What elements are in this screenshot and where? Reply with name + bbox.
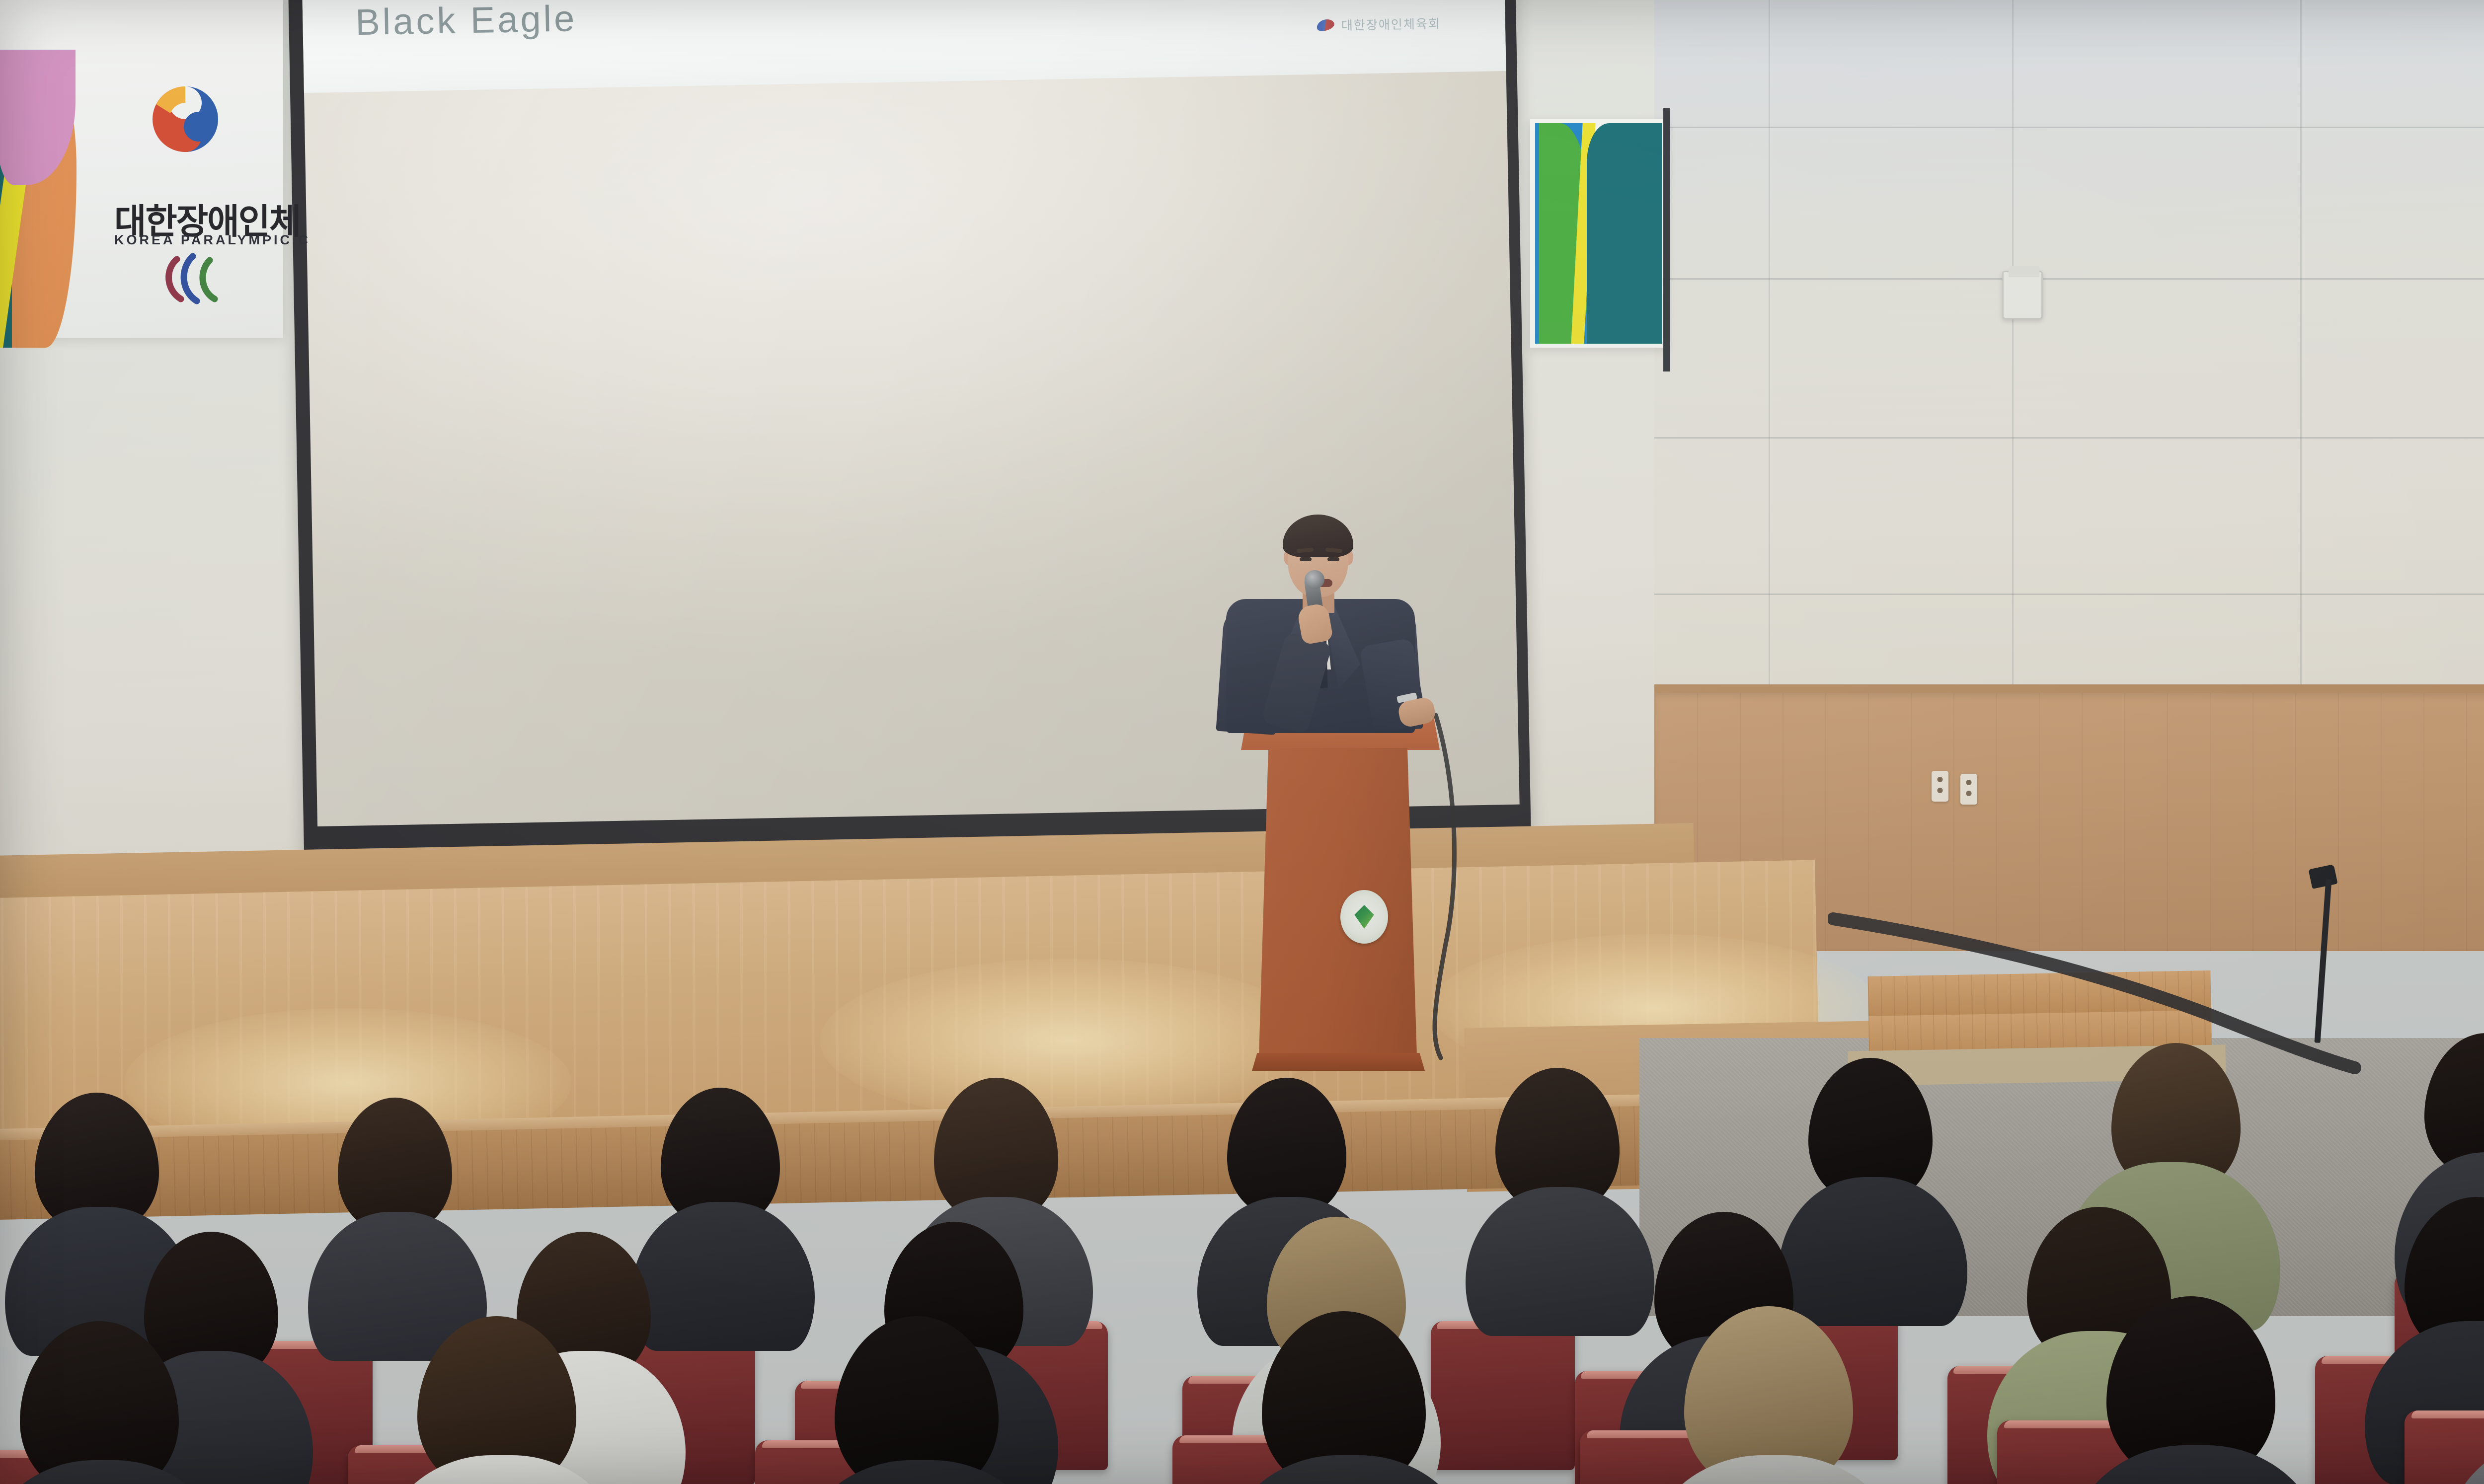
audience-torso [1779, 1177, 1967, 1326]
taeguk-mark-icon [1315, 17, 1335, 33]
podium-emblem-icon [1340, 890, 1388, 944]
slide-logo: 대한장애인체육회 [1316, 13, 1452, 35]
color-flag-banner [1530, 119, 1667, 348]
slide-logo-text: 대한장애인체육회 [1341, 14, 1441, 34]
seat[interactable] [2405, 1410, 2484, 1484]
banner-color-swoosh [0, 50, 104, 348]
audience-torso [631, 1202, 815, 1351]
audience-head [1227, 1078, 1346, 1217]
korea-paralympic-banner: 대한장애인체 KOREA PARALYMPIC C [0, 0, 283, 338]
agitos-symbol-icon [162, 251, 232, 306]
emergency-wall-light-icon [2002, 271, 2043, 319]
seated-audience [0, 973, 2484, 1484]
presenter [1202, 512, 1436, 725]
presenter-hair [1283, 515, 1353, 557]
audience-torso [1466, 1187, 1654, 1336]
auditorium-photo: Black Eagle 대한장애인체육회 대한장애인체 KOREA PAR [0, 0, 2484, 1484]
slide-content: Black Eagle 대한장애인체육회 [302, 0, 1506, 93]
seat[interactable] [1431, 1321, 1575, 1470]
banner-english-name: KOREA PARALYMPIC C [114, 232, 310, 248]
slide-title: Black Eagle [355, 0, 577, 43]
power-outlet[interactable] [1932, 771, 1948, 802]
banner-pole [1663, 108, 1670, 371]
power-outlet-secondary[interactable] [1960, 774, 1977, 805]
taeguk-logo-icon [148, 82, 223, 156]
